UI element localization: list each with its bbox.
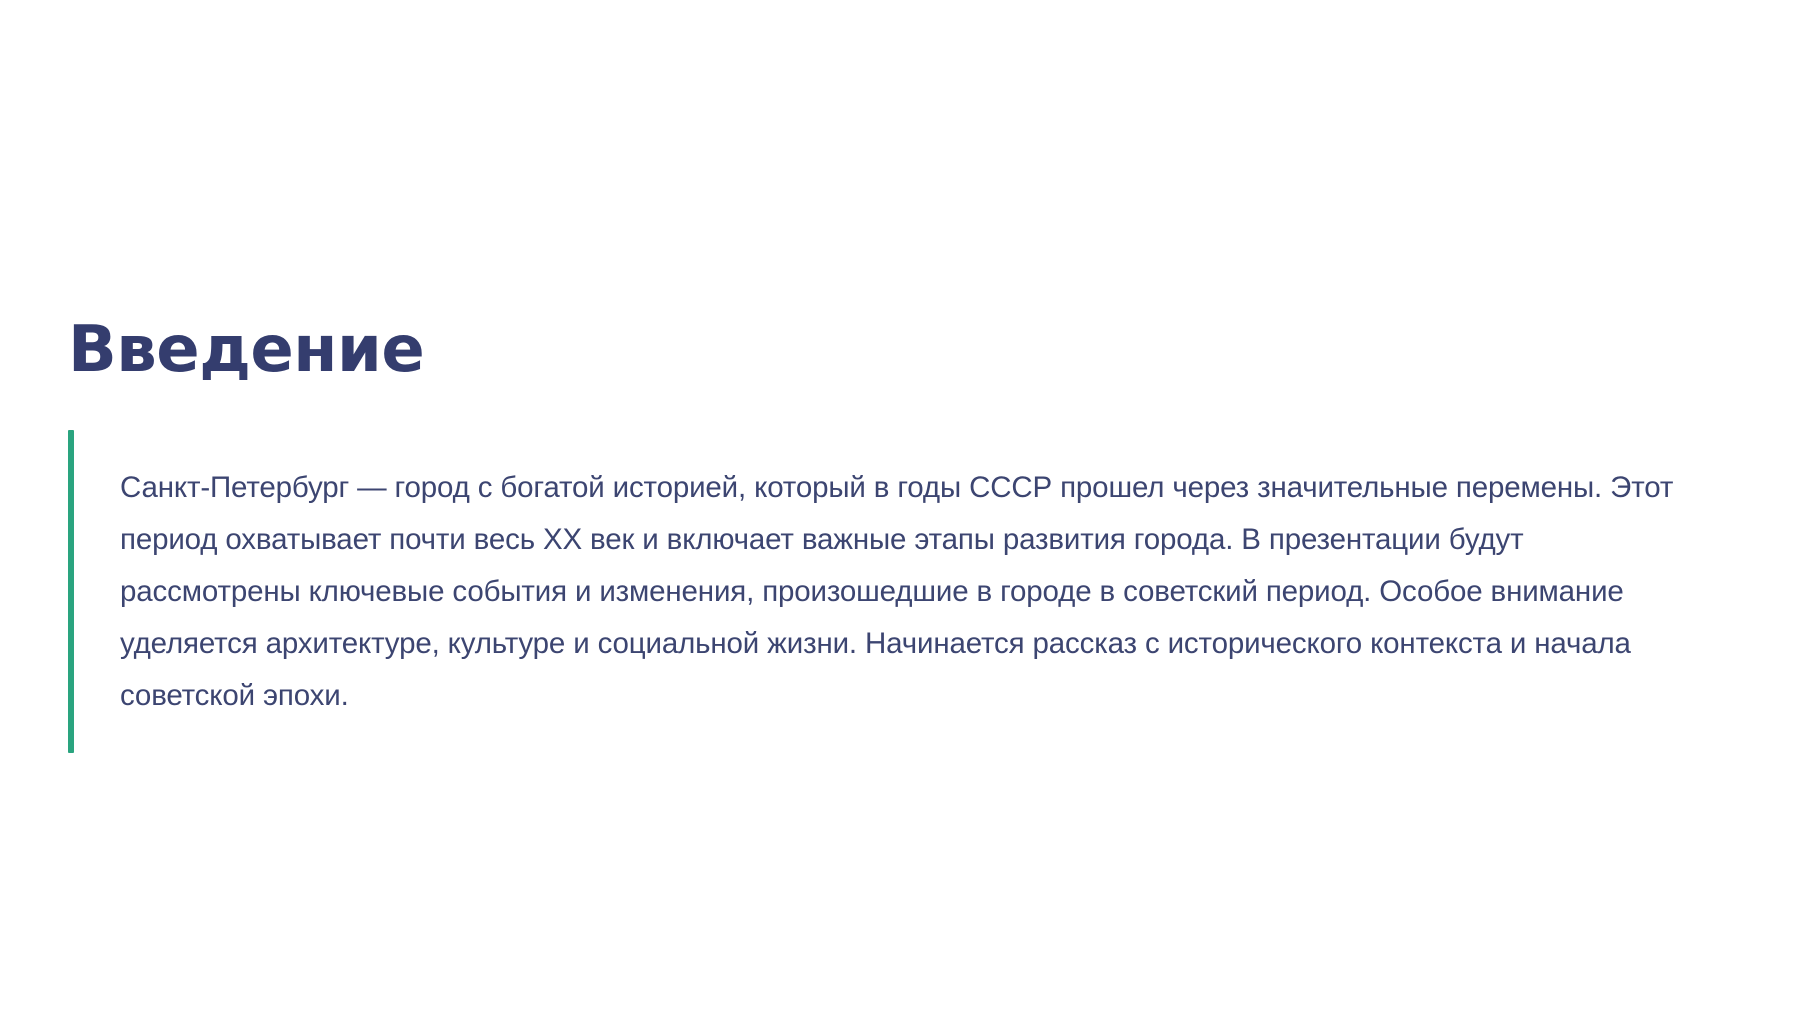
body-paragraph: Санкт-Петербург — город с богатой истори… bbox=[74, 460, 1680, 724]
page-title: Введение bbox=[68, 318, 1728, 382]
slide-content: Введение Санкт-Петербург — город с богат… bbox=[68, 318, 1728, 753]
body-text-block: Санкт-Петербург — город с богатой истори… bbox=[68, 430, 1728, 753]
presentation-slide: Введение Санкт-Петербург — город с богат… bbox=[0, 0, 1800, 1013]
